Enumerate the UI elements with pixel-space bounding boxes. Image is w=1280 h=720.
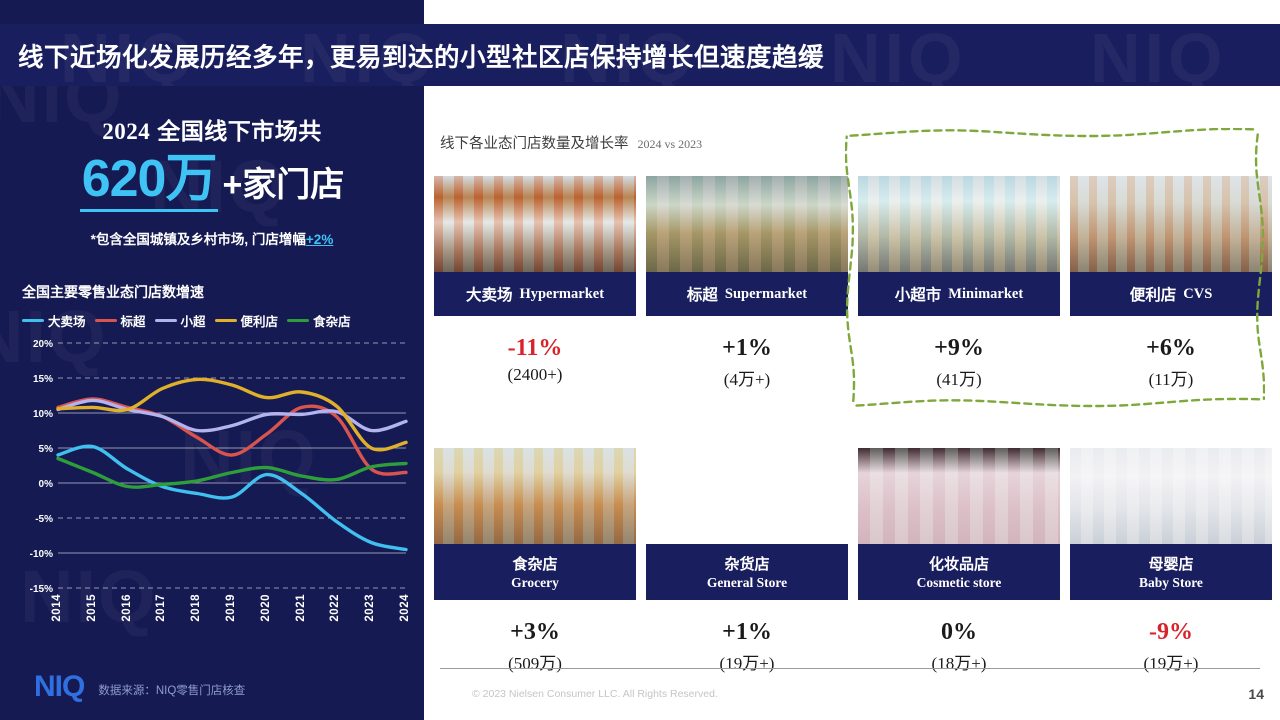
stat-plus-sign: + xyxy=(222,166,242,204)
stat-big-row: 620万 +家门店 xyxy=(0,152,424,212)
slide-title-bar: NIQ NIQ NIQ NIQ NIQ 线下近场化发展历经多年，更易到达的小型社… xyxy=(0,24,1280,86)
store-name-cn: 标超 xyxy=(687,283,718,305)
store-card[interactable]: 标超Supermarket+1%(4万+) xyxy=(646,176,848,390)
stat-year: 2024 xyxy=(102,119,150,144)
store-stats: +3%(509万) xyxy=(434,600,636,674)
growth-rate-value: +3% xyxy=(434,618,636,647)
store-name-banner: 大卖场Hypermarket xyxy=(434,272,636,316)
niq-logo: NIQ xyxy=(34,672,84,702)
store-card[interactable]: 大卖场Hypermarket-11%(2400+) xyxy=(434,176,636,390)
chart-title: 全国主要零售业态门店数增速 xyxy=(22,282,412,302)
store-card[interactable]: 便利店CVS+6%(11万) xyxy=(1070,176,1272,390)
legend-item-0: 大卖场 xyxy=(22,311,86,330)
store-name-en: General Store xyxy=(707,575,787,591)
store-photo xyxy=(646,448,848,544)
store-name-banner: 小超市Minimarket xyxy=(858,272,1060,316)
page-number: 14 xyxy=(1248,686,1264,702)
growth-rate-value: +1% xyxy=(646,618,848,647)
growth-rate-value: -9% xyxy=(1070,618,1272,647)
store-count-value: (4万+) xyxy=(646,365,848,390)
section-header-subtitle: 2024 vs 2023 xyxy=(638,137,703,152)
store-card[interactable]: 化妆品店Cosmetic store0%(18万+) xyxy=(858,448,1060,674)
store-count-value: (509万) xyxy=(434,649,636,674)
copyright-text: © 2023 Nielsen Consumer LLC. All Rights … xyxy=(472,688,718,700)
left-panel: NIQ NIQ NIQ NIQ NIQ 2024 全国线下市场共 620万 +家… xyxy=(0,0,424,720)
section-header: 线下各业态门店数量及增长率 2024 vs 2023 xyxy=(440,132,702,153)
store-photo xyxy=(434,176,636,272)
legend-item-4: 食杂店 xyxy=(287,311,351,330)
y-tick-label: -5% xyxy=(35,514,53,525)
store-name-cn: 食杂店 xyxy=(512,553,557,574)
store-card[interactable]: 小超市Minimarket+9%(41万) xyxy=(858,176,1060,390)
legend-label: 小超 xyxy=(181,311,206,330)
store-name-banner: 标超Supermarket xyxy=(646,272,848,316)
store-count-value: (41万) xyxy=(858,365,1060,390)
store-count-value: (19万+) xyxy=(1070,649,1272,674)
store-card[interactable]: 杂货店General Store+1%(19万+) xyxy=(646,448,848,674)
x-tick-label: 2024 xyxy=(399,594,411,622)
store-name-banner: 便利店CVS xyxy=(1070,272,1272,316)
store-photo xyxy=(858,176,1060,272)
x-tick-label: 2022 xyxy=(329,594,341,622)
store-name-cn: 大卖场 xyxy=(466,283,513,305)
x-tick-label: 2014 xyxy=(51,594,63,622)
store-name-cn: 化妆品店 xyxy=(929,553,989,574)
stat-footnote: *包含全国城镇及乡村市场, 门店增幅+2% xyxy=(0,228,424,248)
store-name-en: Grocery xyxy=(511,575,559,591)
page-title: 线下近场化发展历经多年，更易到达的小型社区店保持增长但速度趋缓 xyxy=(0,37,824,74)
store-name-banner: 化妆品店Cosmetic store xyxy=(858,544,1060,600)
growth-chart: 全国主要零售业态门店数增速 大卖场标超小超便利店食杂店 20%15%10%5%0… xyxy=(22,282,412,654)
left-footer: NIQ 数据来源：NIQ零售门店核查 xyxy=(34,672,245,702)
headline-stat-block: 2024 全国线下市场共 620万 +家门店 *包含全国城镇及乡村市场, 门店增… xyxy=(0,112,424,248)
store-card[interactable]: 母婴店Baby Store-9%(19万+) xyxy=(1070,448,1272,674)
right-panel: 线下各业态门店数量及增长率 2024 vs 2023 大卖场Hypermarke… xyxy=(424,0,1280,720)
x-tick-label: 2021 xyxy=(295,594,307,622)
store-name-en: CVS xyxy=(1183,286,1212,303)
store-name-en: Supermarket xyxy=(725,286,807,303)
store-photo xyxy=(858,448,1060,544)
y-tick-label: 5% xyxy=(39,444,54,455)
legend-item-3: 便利店 xyxy=(215,311,279,330)
x-tick-label: 2017 xyxy=(155,594,167,622)
store-stats: -11%(2400+) xyxy=(434,316,636,385)
x-tick-label: 2016 xyxy=(121,594,133,622)
store-name-cn: 杂货店 xyxy=(724,553,769,574)
highlight-edge-2 xyxy=(854,399,1260,406)
y-tick-label: 10% xyxy=(33,409,53,420)
y-tick-label: 0% xyxy=(39,479,54,490)
chart-x-axis: 2014201520162017201820192020202120222023… xyxy=(22,592,412,654)
stat-suffix-text: 家门店 xyxy=(242,166,344,204)
highlight-edge-0 xyxy=(851,129,1257,136)
store-stats: +1%(4万+) xyxy=(646,316,848,390)
x-tick-label: 2020 xyxy=(260,594,272,622)
legend-label: 大卖场 xyxy=(48,311,86,330)
store-card-row-1: 大卖场Hypermarket-11%(2400+)标超Supermarket+1… xyxy=(434,176,1272,390)
chart-line-3 xyxy=(58,379,406,450)
store-name-cn: 小超市 xyxy=(895,283,942,305)
growth-rate-value: +1% xyxy=(646,334,848,363)
store-name-en: Hypermarket xyxy=(519,286,604,303)
y-tick-label: 15% xyxy=(33,374,53,385)
growth-rate-value: +6% xyxy=(1070,334,1272,363)
footer-divider xyxy=(440,668,1260,669)
source-note: 数据来源：NIQ零售门店核查 xyxy=(98,682,245,702)
stat-big-number: 620万 xyxy=(80,152,219,212)
store-photo xyxy=(434,448,636,544)
legend-item-1: 标超 xyxy=(95,311,146,330)
x-tick-label: 2018 xyxy=(190,594,202,622)
section-header-title: 线下各业态门店数量及增长率 xyxy=(440,132,629,153)
store-stats: 0%(18万+) xyxy=(858,600,1060,674)
x-tick-label: 2015 xyxy=(86,594,98,622)
store-name-banner: 母婴店Baby Store xyxy=(1070,544,1272,600)
store-count-value: (11万) xyxy=(1070,365,1272,390)
stat-headline-row: 2024 全国线下市场共 xyxy=(0,112,424,146)
stat-big-suffix: +家门店 xyxy=(222,157,344,206)
growth-rate-value: +9% xyxy=(858,334,1060,363)
y-tick-label: -15% xyxy=(30,584,53,592)
chart-svg: 20%15%10%5%0%-5%-10%-15% xyxy=(22,337,412,592)
store-card-row-2: 食杂店Grocery+3%(509万)杂货店General Store+1%(1… xyxy=(434,448,1272,674)
stat-footnote-pct: +2% xyxy=(306,232,333,247)
chart-line-0 xyxy=(58,446,406,549)
store-name-cn: 母婴店 xyxy=(1148,553,1193,574)
store-name-banner: 食杂店Grocery xyxy=(434,544,636,600)
x-tick-label: 2019 xyxy=(225,594,237,622)
legend-swatch xyxy=(155,319,177,323)
store-name-en: Cosmetic store xyxy=(917,575,1002,591)
legend-swatch xyxy=(287,319,309,323)
legend-label: 便利店 xyxy=(241,311,279,330)
legend-swatch xyxy=(95,319,117,323)
store-name-cn: 便利店 xyxy=(1130,283,1177,305)
legend-swatch xyxy=(215,319,237,323)
store-name-banner: 杂货店General Store xyxy=(646,544,848,600)
store-name-en: Baby Store xyxy=(1139,575,1203,591)
right-footer: © 2023 Nielsen Consumer LLC. All Rights … xyxy=(424,686,1280,702)
watermark: NIQ xyxy=(830,24,966,86)
store-count-value: (2400+) xyxy=(434,365,636,385)
store-count-value: (18万+) xyxy=(858,649,1060,674)
growth-rate-value: 0% xyxy=(858,618,1060,647)
y-tick-label: -10% xyxy=(30,549,53,560)
chart-legend: 大卖场标超小超便利店食杂店 xyxy=(22,311,412,330)
y-tick-label: 20% xyxy=(33,339,53,350)
store-stats: +6%(11万) xyxy=(1070,316,1272,390)
store-count-value: (19万+) xyxy=(646,649,848,674)
store-stats: -9%(19万+) xyxy=(1070,600,1272,674)
legend-item-2: 小超 xyxy=(155,311,206,330)
growth-rate-value: -11% xyxy=(434,334,636,363)
stat-footnote-text: *包含全国城镇及乡村市场, 门店增幅 xyxy=(91,232,306,247)
store-photo xyxy=(1070,176,1272,272)
stat-headline-text: 全国线下市场共 xyxy=(157,118,322,144)
x-tick-label: 2023 xyxy=(364,594,376,622)
store-stats: +9%(41万) xyxy=(858,316,1060,390)
legend-label: 食杂店 xyxy=(313,311,351,330)
legend-label: 标超 xyxy=(121,311,146,330)
store-photo xyxy=(646,176,848,272)
legend-swatch xyxy=(22,319,44,323)
store-photo xyxy=(1070,448,1272,544)
watermark: NIQ xyxy=(1090,24,1226,86)
store-stats: +1%(19万+) xyxy=(646,600,848,674)
store-card[interactable]: 食杂店Grocery+3%(509万) xyxy=(434,448,636,674)
store-name-en: Minimarket xyxy=(948,286,1023,303)
chart-plot-area: 20%15%10%5%0%-5%-10%-15% xyxy=(22,337,412,592)
